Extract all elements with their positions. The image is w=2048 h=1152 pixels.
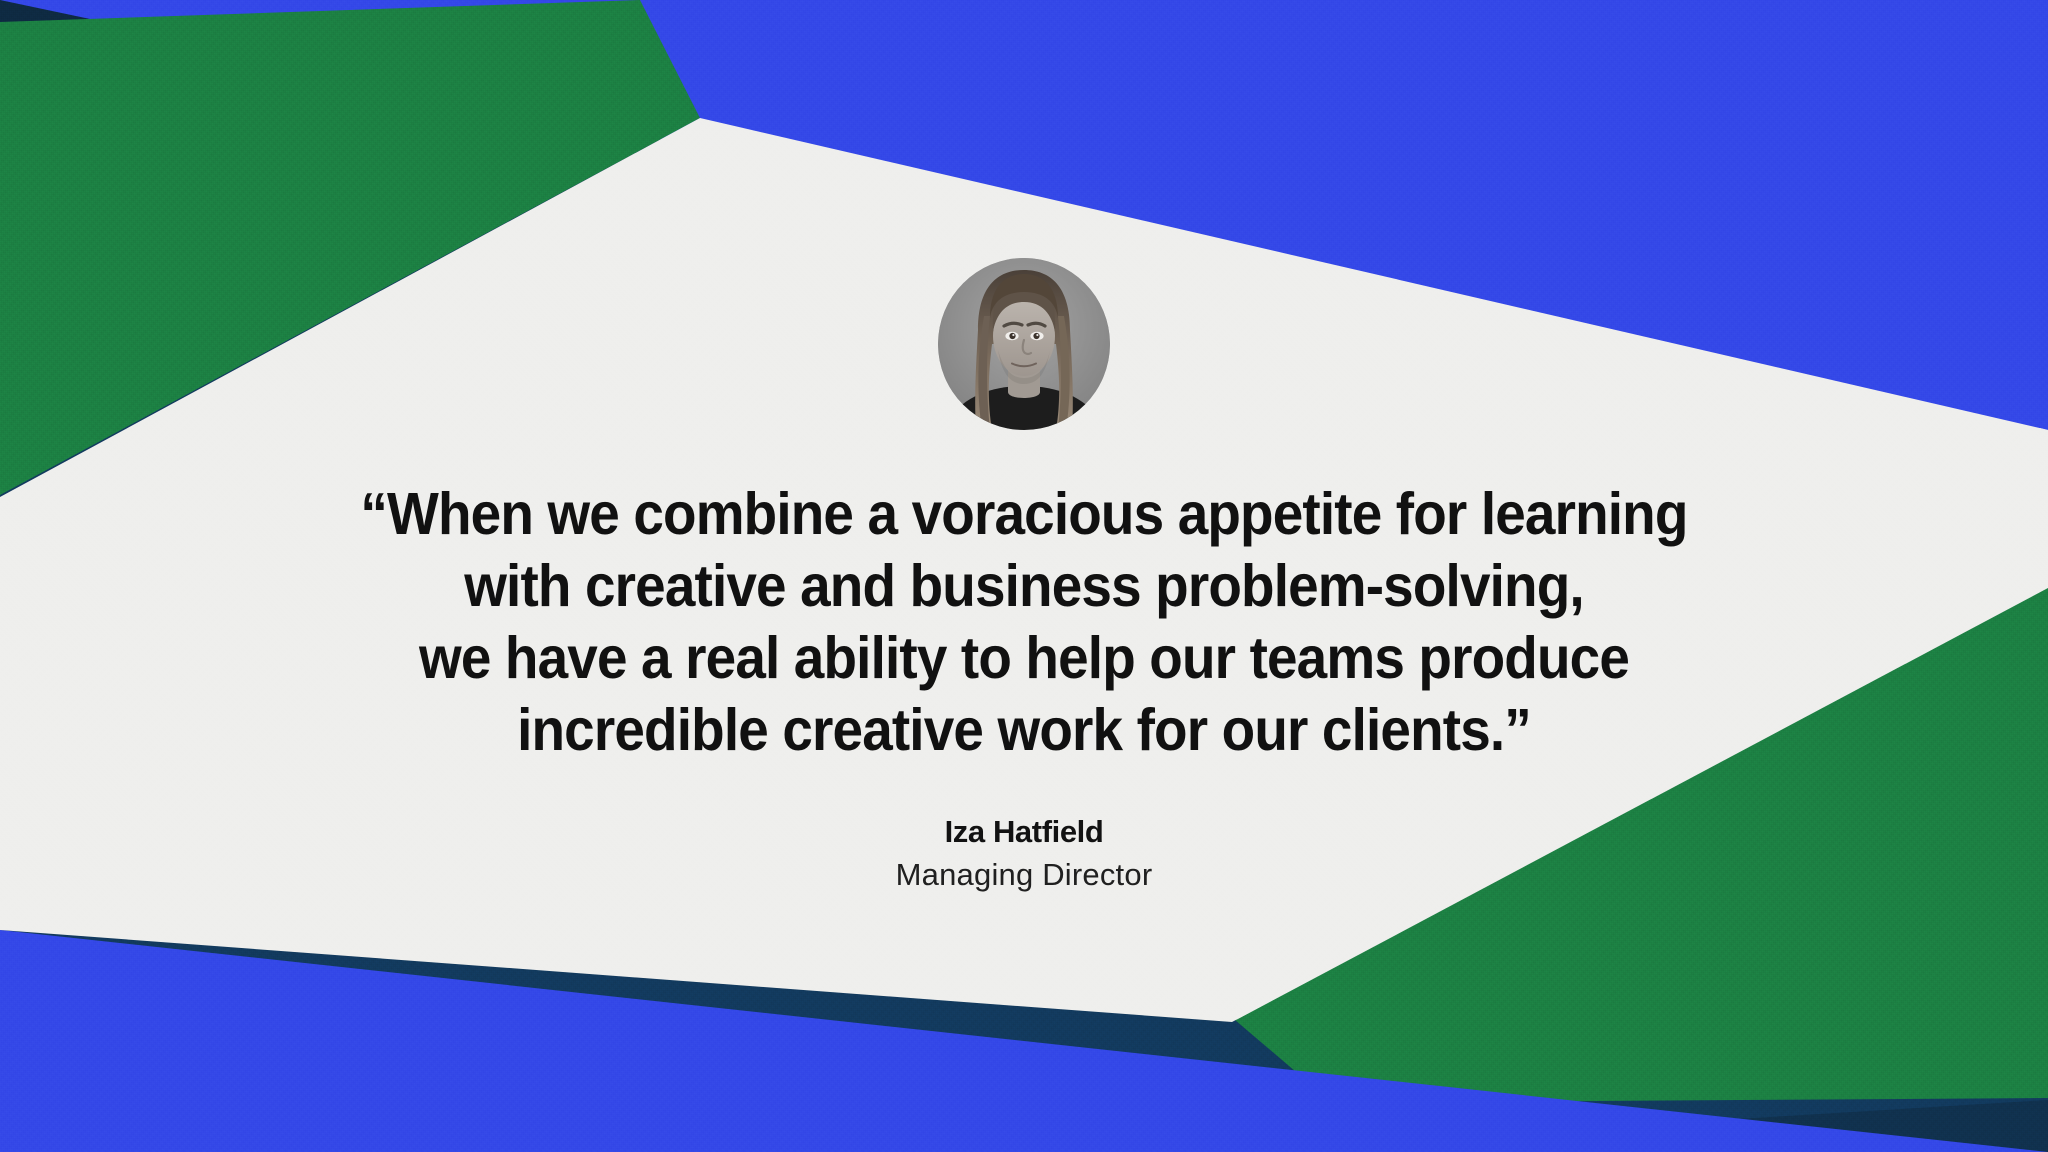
avatar bbox=[938, 258, 1110, 430]
portrait-photo-illustration bbox=[938, 258, 1110, 430]
testimonial-card: “When we combine a voracious appetite fo… bbox=[0, 0, 2048, 1152]
background-geometry bbox=[0, 0, 2048, 1152]
